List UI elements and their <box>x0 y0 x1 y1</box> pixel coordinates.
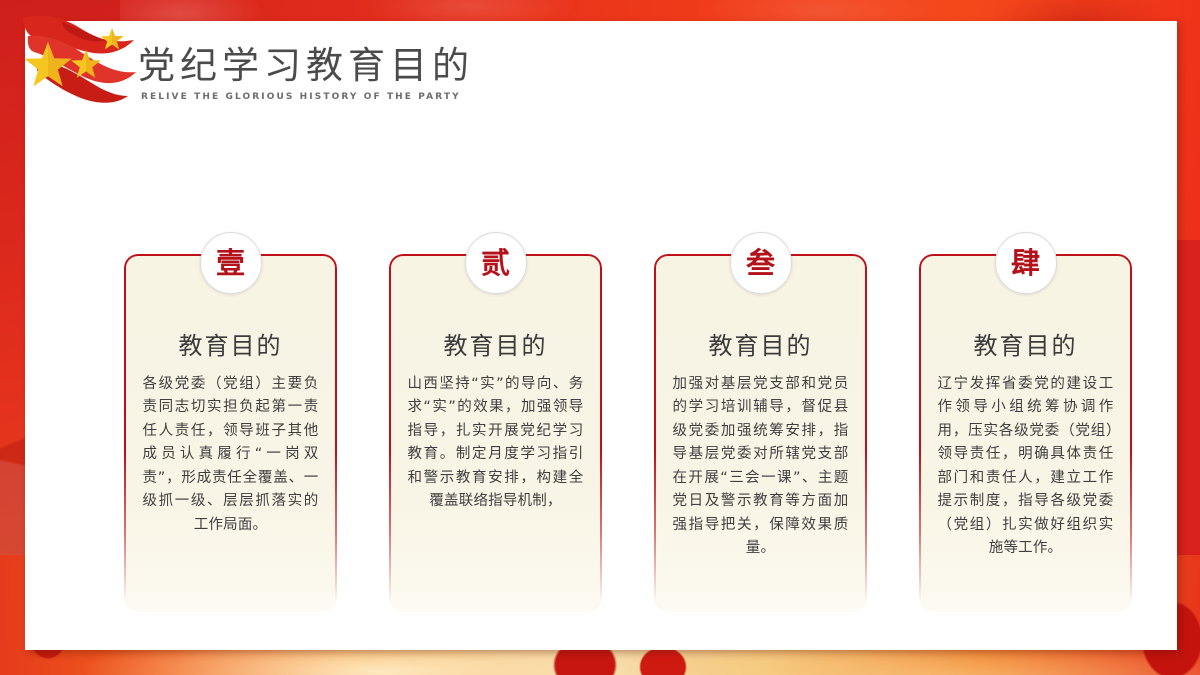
card-content: 教育目的 辽宁发挥省委党的建设工作领导小组统筹协调作用，压实各级党委（党组）领导… <box>927 254 1124 612</box>
content-card-1[interactable]: 壹 教育目的 各级党委（党组）主要负责同志切实担负起第一责任人责任，领导班子其他… <box>124 232 337 612</box>
card-number-badge-1: 壹 <box>200 232 262 294</box>
content-card-4[interactable]: 肆 教育目的 辽宁发挥省委党的建设工作领导小组统筹协调作用，压实各级党委（党组）… <box>919 232 1132 612</box>
card-heading: 教育目的 <box>444 326 548 361</box>
card-number-label: 贰 <box>481 249 510 278</box>
card-heading: 教育目的 <box>974 326 1078 361</box>
card-number-label: 壹 <box>216 249 245 278</box>
content-card-2[interactable]: 贰 教育目的 山西坚持“实”的导向、务求“实”的效果，加强领导指导，扎实开展党纪… <box>389 232 602 612</box>
card-heading: 教育目的 <box>709 326 813 361</box>
card-number-label: 叁 <box>746 249 775 278</box>
card-body-text: 各级党委（党组）主要负责同志切实担负起第一责任人责任，领导班子其他成员认真履行“… <box>143 373 319 537</box>
card-content: 教育目的 各级党委（党组）主要负责同志切实担负起第一责任人责任，领导班子其他成员… <box>132 254 329 612</box>
party-flag-star-emblem-icon <box>18 16 138 108</box>
card-number-badge-2: 贰 <box>465 232 527 294</box>
content-card-3[interactable]: 叁 教育目的 加强对基层党支部和党员的学习培训辅导，督促县级党委加强统筹安排，指… <box>654 232 867 612</box>
cards-row: 壹 教育目的 各级党委（党组）主要负责同志切实担负起第一责任人责任，领导班子其他… <box>25 21 1177 650</box>
card-content: 教育目的 山西坚持“实”的导向、务求“实”的效果，加强领导指导，扎实开展党纪学习… <box>397 254 594 612</box>
card-body-text: 加强对基层党支部和党员的学习培训辅导，督促县级党委加强统筹安排，指导基层党委对所… <box>673 373 849 561</box>
card-heading: 教育目的 <box>179 326 283 361</box>
card-number-badge-4: 肆 <box>995 232 1057 294</box>
card-content: 教育目的 加强对基层党支部和党员的学习培训辅导，督促县级党委加强统筹安排，指导基… <box>662 254 859 612</box>
card-body-text: 辽宁发挥省委党的建设工作领导小组统筹协调作用，压实各级党委（党组）领导责任，明确… <box>938 373 1114 561</box>
slide-content-panel: 党纪学习教育目的 RELIVE THE GLORIOUS HISTORY OF … <box>25 21 1177 650</box>
card-number-label: 肆 <box>1011 249 1040 278</box>
card-number-badge-3: 叁 <box>730 232 792 294</box>
card-body-text: 山西坚持“实”的导向、务求“实”的效果，加强领导指导，扎实开展党纪学习教育。制定… <box>408 373 584 514</box>
